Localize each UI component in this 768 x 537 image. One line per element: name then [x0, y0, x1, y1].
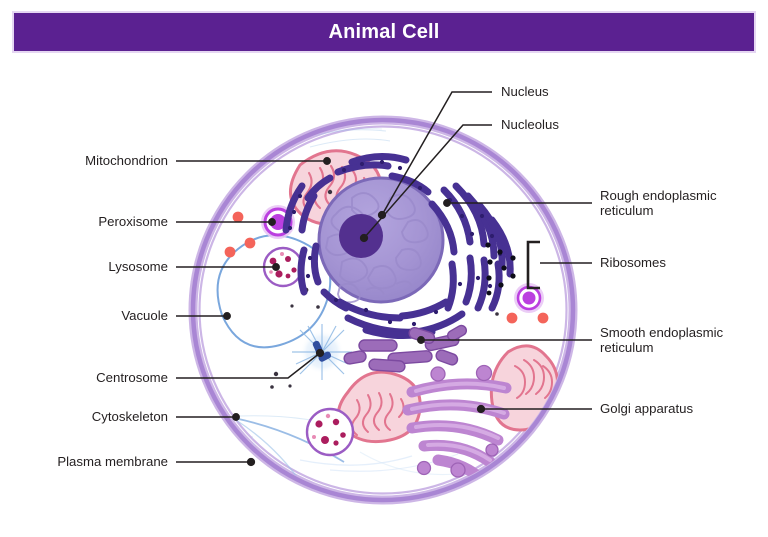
label-nucleus: Nucleus — [501, 84, 549, 99]
label-peroxisome: Peroxisome — [98, 214, 168, 229]
lysosome-lower — [307, 409, 353, 455]
label-plasma-membrane: Plasma membrane — [57, 454, 168, 469]
lysosome-upper — [264, 248, 302, 286]
label-cytoskeleton: Cytoskeleton — [92, 409, 168, 424]
label-centrosome: Centrosome — [96, 370, 168, 385]
peroxisome-right — [514, 283, 544, 313]
label-smooth-er: Smooth endoplasmic reticulum — [600, 325, 723, 355]
label-nucleolus: Nucleolus — [501, 117, 559, 132]
animal-cell-figure: Animal Cell — [0, 0, 768, 537]
label-vacuole: Vacuole — [121, 308, 168, 323]
label-mitochondrion: Mitochondrion — [85, 153, 168, 168]
label-golgi: Golgi apparatus — [600, 401, 693, 416]
nucleus-structure — [319, 178, 443, 302]
label-lysosome: Lysosome — [108, 259, 168, 274]
nucleolus — [339, 214, 383, 258]
label-ribosomes: Ribosomes — [600, 255, 666, 270]
label-rough-er: Rough endoplasmic reticulum — [600, 188, 717, 218]
